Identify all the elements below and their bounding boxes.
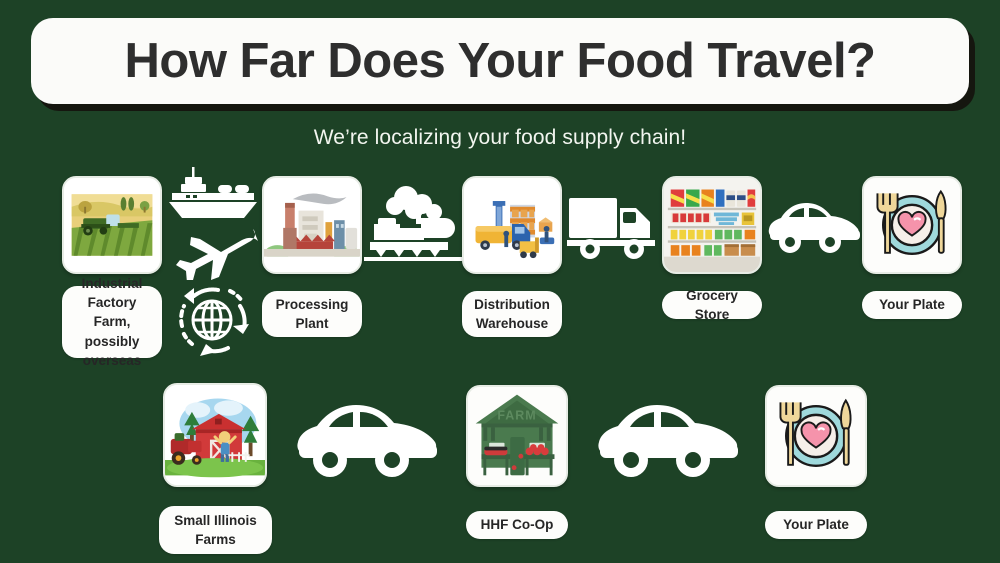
- box-truck-icon: [566, 192, 658, 260]
- global-shipping-globe-icon: [170, 282, 254, 358]
- label-small-illinois-farms: Small Illinois Farms: [159, 506, 272, 554]
- plate-heart-artwork-local: [767, 387, 865, 485]
- grocery-store-artwork: [664, 178, 760, 272]
- red-barn-farm-artwork: [165, 385, 265, 485]
- farm-stand-artwork: FARM: [468, 387, 566, 485]
- page-subtitle: We’re localizing your food supply chain!: [0, 126, 1000, 150]
- title-banner-card: How Far Does Your Food Travel?: [31, 18, 969, 104]
- farm-stand-image: FARM: [466, 385, 568, 487]
- label-your-plate-local: Your Plate: [765, 511, 867, 539]
- car-icon-local-2: [597, 400, 741, 478]
- cargo-ship-icon: [166, 166, 260, 224]
- label-distribution-warehouse: Distribution Warehouse: [462, 291, 562, 337]
- distribution-warehouse-artwork: [464, 178, 560, 272]
- industrial-farm-artwork: [64, 178, 160, 272]
- cargo-ship-glyph: [166, 166, 260, 224]
- label-grocery-store: Grocery Store: [662, 291, 762, 319]
- label-hhf-coop-text: HHF Co-Op: [481, 515, 554, 534]
- title-banner: How Far Does Your Food Travel?: [31, 18, 969, 104]
- label-processing-plant: Processing Plant: [262, 291, 362, 337]
- processing-plant-image: [262, 176, 362, 274]
- plate-heart-image-local: [765, 385, 867, 487]
- car-icon: [768, 197, 862, 257]
- car-glyph: [768, 197, 862, 257]
- label-industrial-farm: Industrial Factory Farm, possibly overse…: [62, 286, 162, 358]
- car-glyph-local-2: [597, 400, 741, 478]
- plate-heart-artwork: [864, 178, 960, 272]
- plate-heart-image: [862, 176, 962, 274]
- label-hhf-coop: HHF Co-Op: [466, 511, 568, 539]
- label-small-illinois-farms-text: Small Illinois Farms: [171, 511, 260, 549]
- grocery-store-image: [662, 176, 762, 274]
- industrial-farm-image: [62, 176, 162, 274]
- label-industrial-farm-text: Industrial Factory Farm, possibly overse…: [74, 274, 150, 370]
- label-distribution-warehouse-text: Distribution Warehouse: [474, 295, 550, 333]
- global-shipping-globe-glyph: [170, 282, 254, 358]
- airplane-icon: [168, 218, 260, 280]
- svg-text:FARM: FARM: [497, 409, 536, 423]
- distribution-warehouse-image: [462, 176, 562, 274]
- processing-plant-artwork: [264, 178, 360, 272]
- label-your-plate-local-text: Your Plate: [783, 515, 849, 534]
- label-processing-plant-text: Processing Plant: [274, 295, 350, 333]
- box-truck-glyph: [566, 192, 658, 260]
- label-grocery-store-text: Grocery Store: [674, 286, 750, 324]
- page-title: How Far Does Your Food Travel?: [125, 37, 876, 86]
- label-your-plate: Your Plate: [862, 291, 962, 319]
- red-barn-farm-image: [163, 383, 267, 487]
- car-icon-local-1: [296, 400, 440, 478]
- label-your-plate-text: Your Plate: [879, 295, 945, 314]
- steam-train-glyph: [362, 184, 464, 266]
- car-glyph-local-1: [296, 400, 440, 478]
- steam-train-icon: [362, 184, 464, 266]
- airplane-glyph: [168, 218, 260, 280]
